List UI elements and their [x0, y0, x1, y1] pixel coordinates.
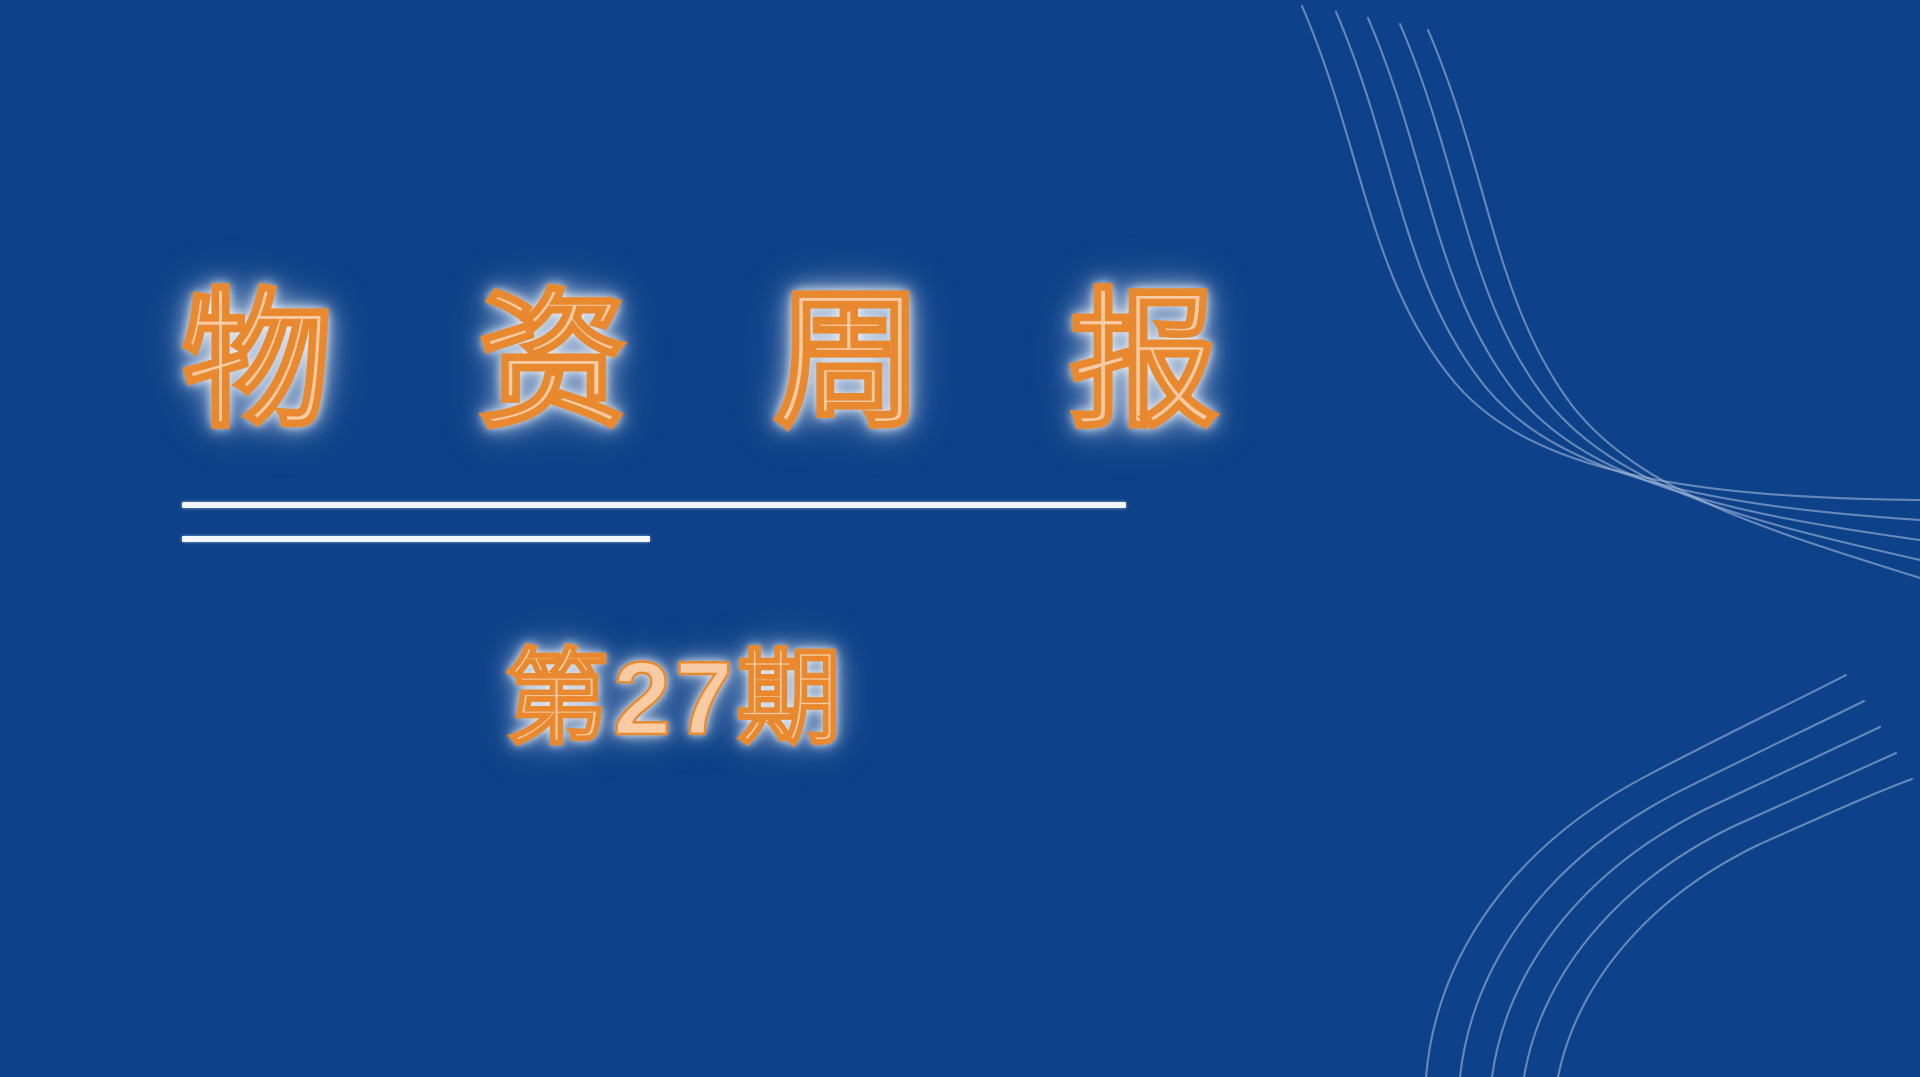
title-underline-short [182, 536, 650, 542]
cover-slide: 物 资 周 报 第27期 [0, 0, 1920, 1077]
wave-line-3 [1368, 18, 1920, 540]
wave-line-9 [1524, 753, 1896, 1077]
page-title: 物 资 周 报 [182, 286, 1182, 436]
wave-line-5 [1428, 30, 1920, 578]
wave-line-2 [1336, 12, 1920, 520]
wave-line-6 [1426, 675, 1846, 1077]
wave-line-8 [1492, 727, 1880, 1077]
wave-line-10 [1558, 779, 1912, 1077]
title-underline-group [182, 502, 1126, 542]
wave-line-7 [1460, 701, 1864, 1077]
issue-subtitle: 第27期 [0, 640, 1350, 760]
title-underline-long [182, 502, 1126, 508]
wave-line-1 [1302, 6, 1920, 500]
wave-line-4 [1400, 24, 1920, 560]
wave-lines-top-right [1260, 0, 1920, 560]
title-block: 物 资 周 报 [182, 286, 1182, 436]
